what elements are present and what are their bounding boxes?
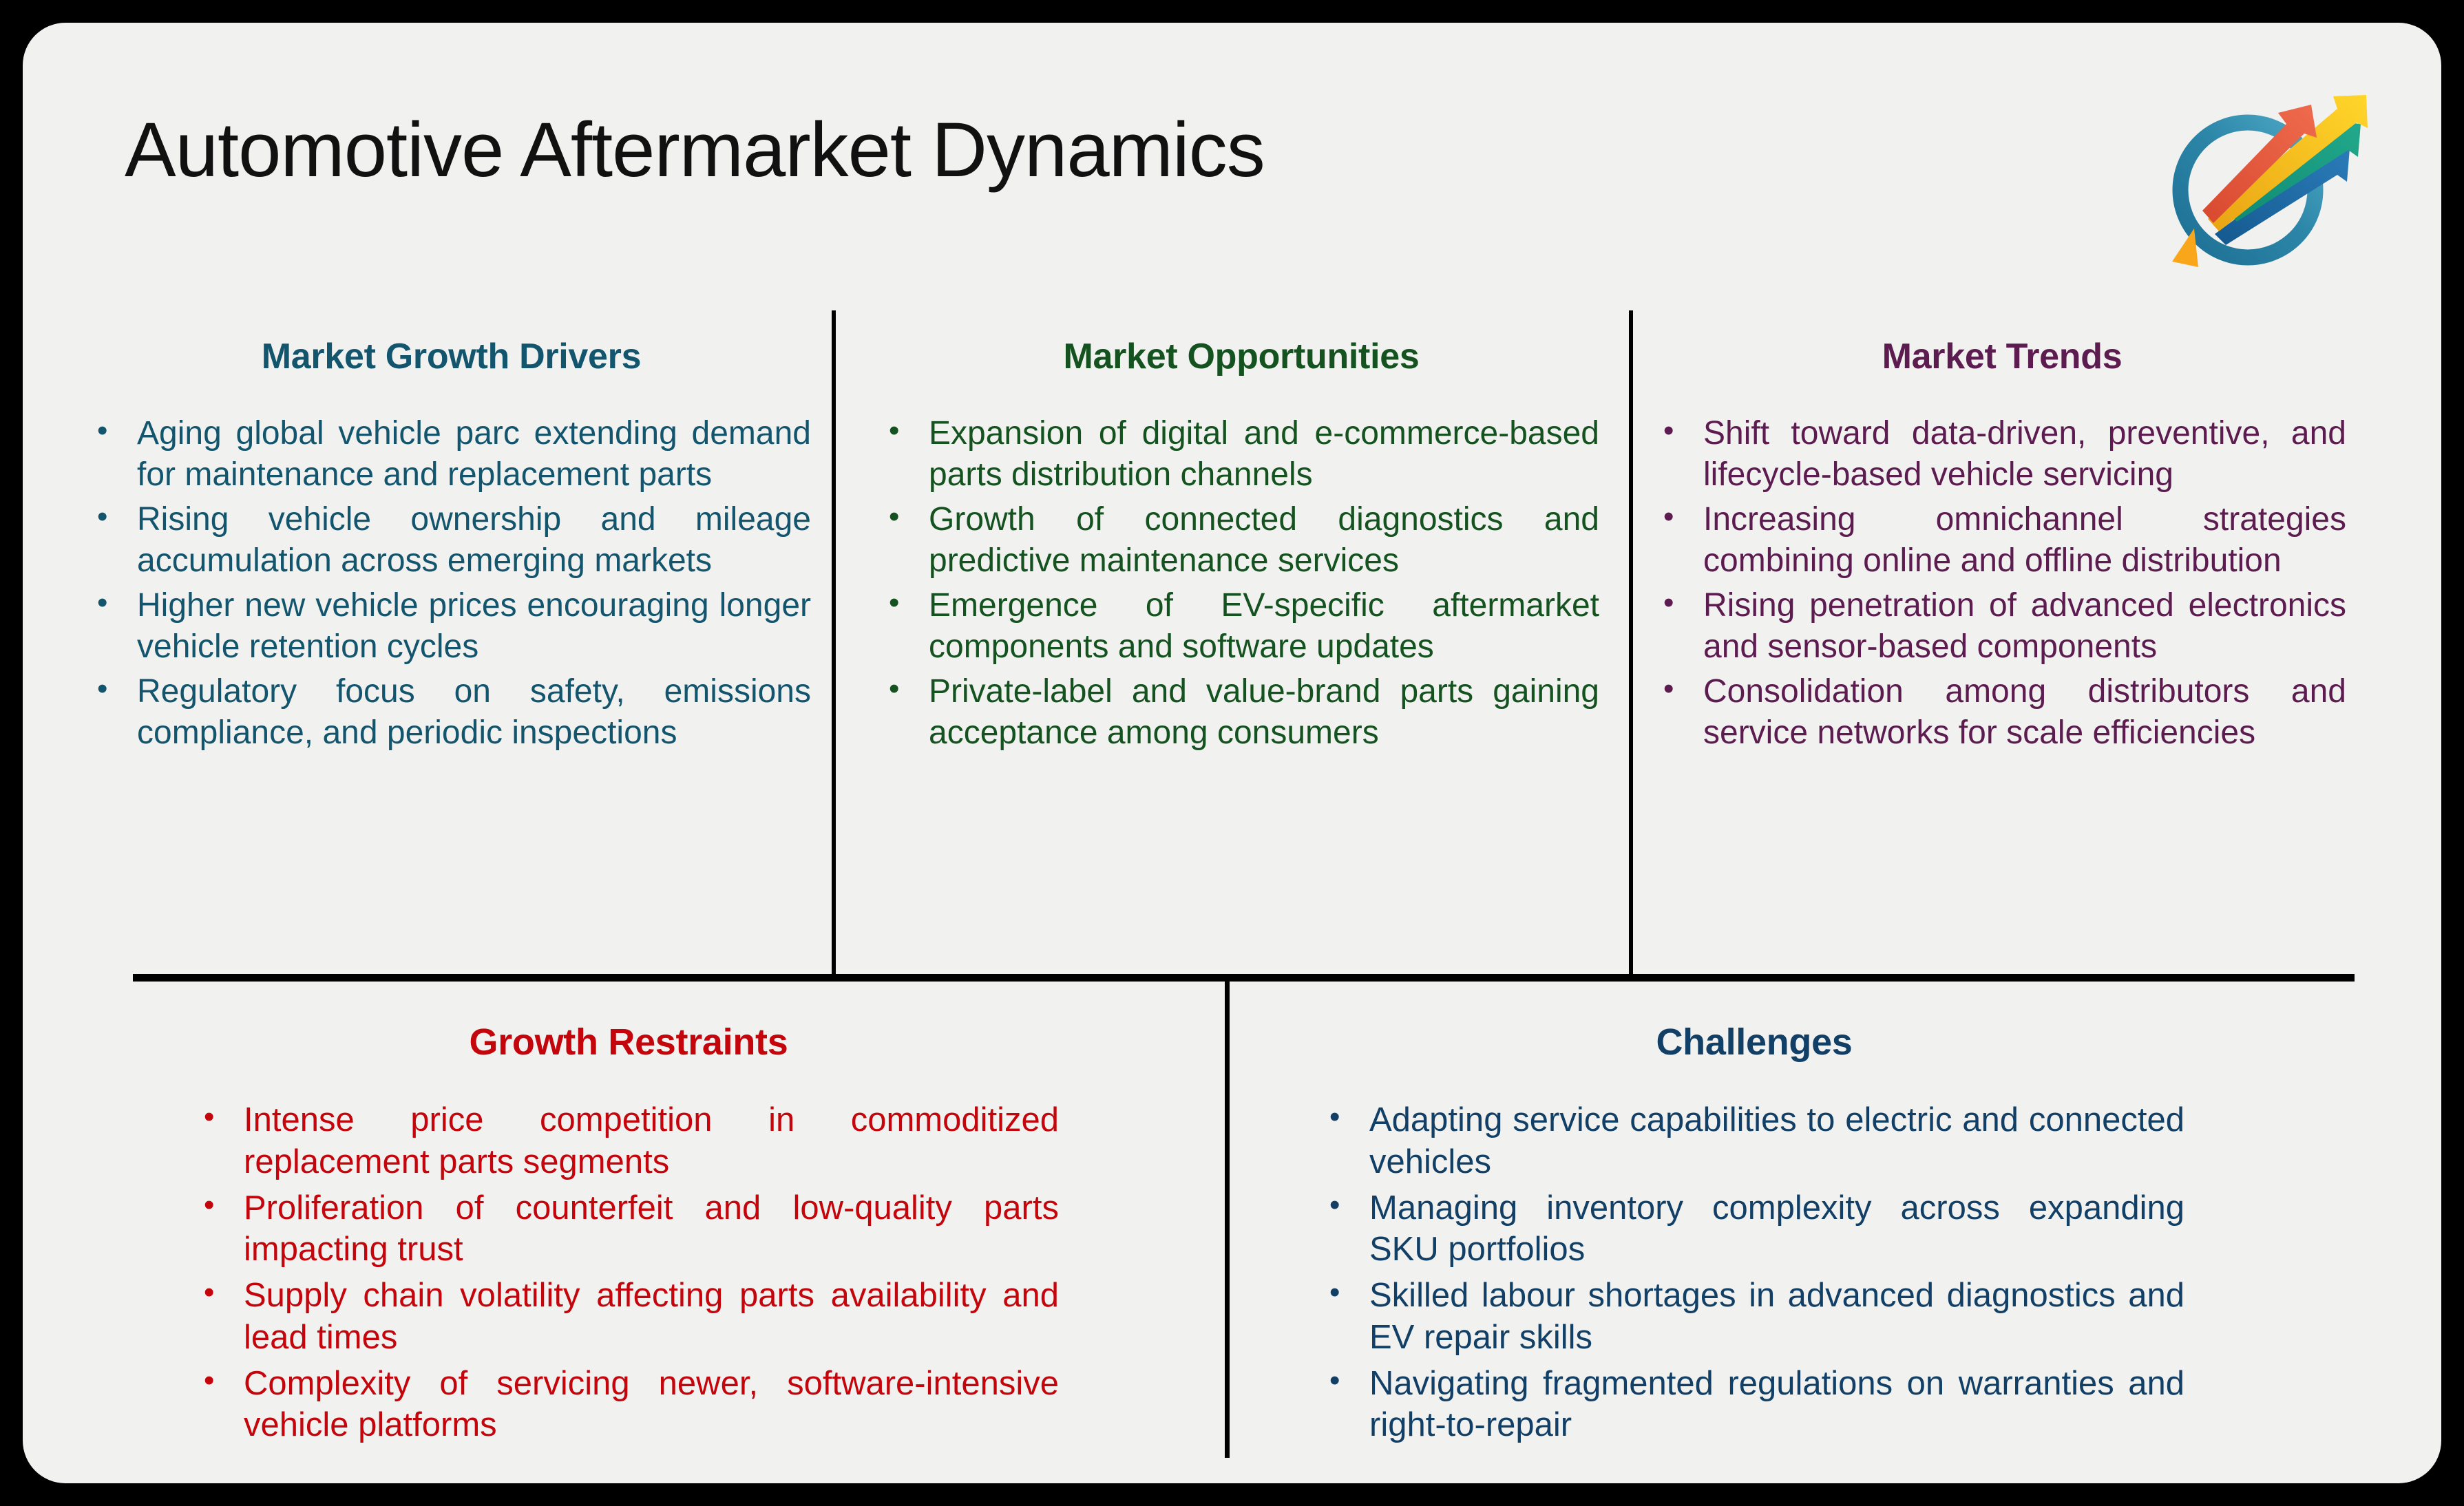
quadrant-title-restraints: Growth Restraints (198, 1021, 1059, 1063)
list-item-text: Rising penetration of advanced electroni… (1703, 585, 2346, 667)
list-item-text: Expansion of digital and e-commerce-base… (929, 413, 1599, 495)
growth-arrows-circle-logo (2143, 61, 2377, 288)
quadrant-title-trends: Market Trends (1658, 336, 2346, 377)
list-item-text: Consolidation among distributors and ser… (1703, 671, 2346, 753)
list-item: Shift toward data-driven, preventive, an… (1658, 413, 2346, 495)
list-item-text: Navigating fragmented regulations on war… (1369, 1363, 2184, 1447)
slide-panel: Automotive Aftermarket Dynamics (23, 23, 2441, 1483)
bullet-list-opportunities: Expansion of digital and e-commerce-base… (883, 413, 1599, 753)
list-item: Regulatory focus on safety, emissions co… (92, 671, 811, 753)
list-item-text: Supply chain volatility affecting parts … (244, 1275, 1059, 1359)
quadrant-restraints: Growth Restraints Intense price competit… (198, 1021, 1059, 1450)
bullet-list-restraints: Intense price competition in commoditize… (198, 1099, 1059, 1446)
quadrant-growth-drivers: Market Growth Drivers Aging global vehic… (92, 336, 811, 757)
list-item-text: Skilled labour shortages in advanced dia… (1369, 1275, 2184, 1359)
list-item: Complexity of servicing newer, software-… (198, 1363, 1059, 1447)
quadrant-title-opportunities: Market Opportunities (883, 336, 1599, 377)
list-item-text: Increasing omnichannel strategies combin… (1703, 499, 2346, 581)
list-item-text: Aging global vehicle parc extending dema… (137, 413, 811, 495)
list-item-text: Regulatory focus on safety, emissions co… (137, 671, 811, 753)
list-item-text: Emergence of EV-specific aftermarket com… (929, 585, 1599, 667)
list-item: Emergence of EV-specific aftermarket com… (883, 585, 1599, 667)
list-item-text: Private-label and value-brand parts gain… (929, 671, 1599, 753)
list-item-text: Proliferation of counterfeit and low-qua… (244, 1187, 1059, 1271)
list-item: Rising penetration of advanced electroni… (1658, 585, 2346, 667)
page-title: Automotive Aftermarket Dynamics (125, 105, 1265, 194)
quadrant-opportunities: Market Opportunities Expansion of digita… (883, 336, 1599, 757)
quadrant-title-challenges: Challenges (1324, 1021, 2184, 1063)
horizontal-divider (133, 974, 2355, 982)
list-item: Consolidation among distributors and ser… (1658, 671, 2346, 753)
list-item-text: Growth of connected diagnostics and pred… (929, 499, 1599, 581)
list-item: Private-label and value-brand parts gain… (883, 671, 1599, 753)
list-item: Intense price competition in commoditize… (198, 1099, 1059, 1183)
list-item-text: Intense price competition in commoditize… (244, 1099, 1059, 1183)
list-item: Navigating fragmented regulations on war… (1324, 1363, 2184, 1447)
list-item: Proliferation of counterfeit and low-qua… (198, 1187, 1059, 1271)
bullet-list-growth-drivers: Aging global vehicle parc extending dema… (92, 413, 811, 753)
list-item-text: Rising vehicle ownership and mileage acc… (137, 499, 811, 581)
list-item: Higher new vehicle prices encouraging lo… (92, 585, 811, 667)
vertical-divider-3 (1225, 982, 1230, 1458)
list-item: Aging global vehicle parc extending dema… (92, 413, 811, 495)
list-item-text: Adapting service capabilities to electri… (1369, 1099, 2184, 1183)
list-item: Growth of connected diagnostics and pred… (883, 499, 1599, 581)
list-item: Rising vehicle ownership and mileage acc… (92, 499, 811, 581)
quadrant-challenges: Challenges Adapting service capabilities… (1324, 1021, 2184, 1450)
list-item: Adapting service capabilities to electri… (1324, 1099, 2184, 1183)
bullet-list-challenges: Adapting service capabilities to electri… (1324, 1099, 2184, 1446)
vertical-divider-1 (832, 310, 836, 977)
slide-canvas: Automotive Aftermarket Dynamics (0, 0, 2464, 1506)
list-item: Managing inventory complexity across exp… (1324, 1187, 2184, 1271)
list-item: Skilled labour shortages in advanced dia… (1324, 1275, 2184, 1359)
list-item: Expansion of digital and e-commerce-base… (883, 413, 1599, 495)
vertical-divider-2 (1629, 310, 1633, 977)
list-item-text: Complexity of servicing newer, software-… (244, 1363, 1059, 1447)
list-item: Supply chain volatility affecting parts … (198, 1275, 1059, 1359)
list-item-text: Higher new vehicle prices encouraging lo… (137, 585, 811, 667)
bullet-list-trends: Shift toward data-driven, preventive, an… (1658, 413, 2346, 753)
list-item-text: Shift toward data-driven, preventive, an… (1703, 413, 2346, 495)
list-item-text: Managing inventory complexity across exp… (1369, 1187, 2184, 1271)
quadrant-trends: Market Trends Shift toward data-driven, … (1658, 336, 2346, 757)
quadrant-title-growth-drivers: Market Growth Drivers (92, 336, 811, 377)
list-item: Increasing omnichannel strategies combin… (1658, 499, 2346, 581)
